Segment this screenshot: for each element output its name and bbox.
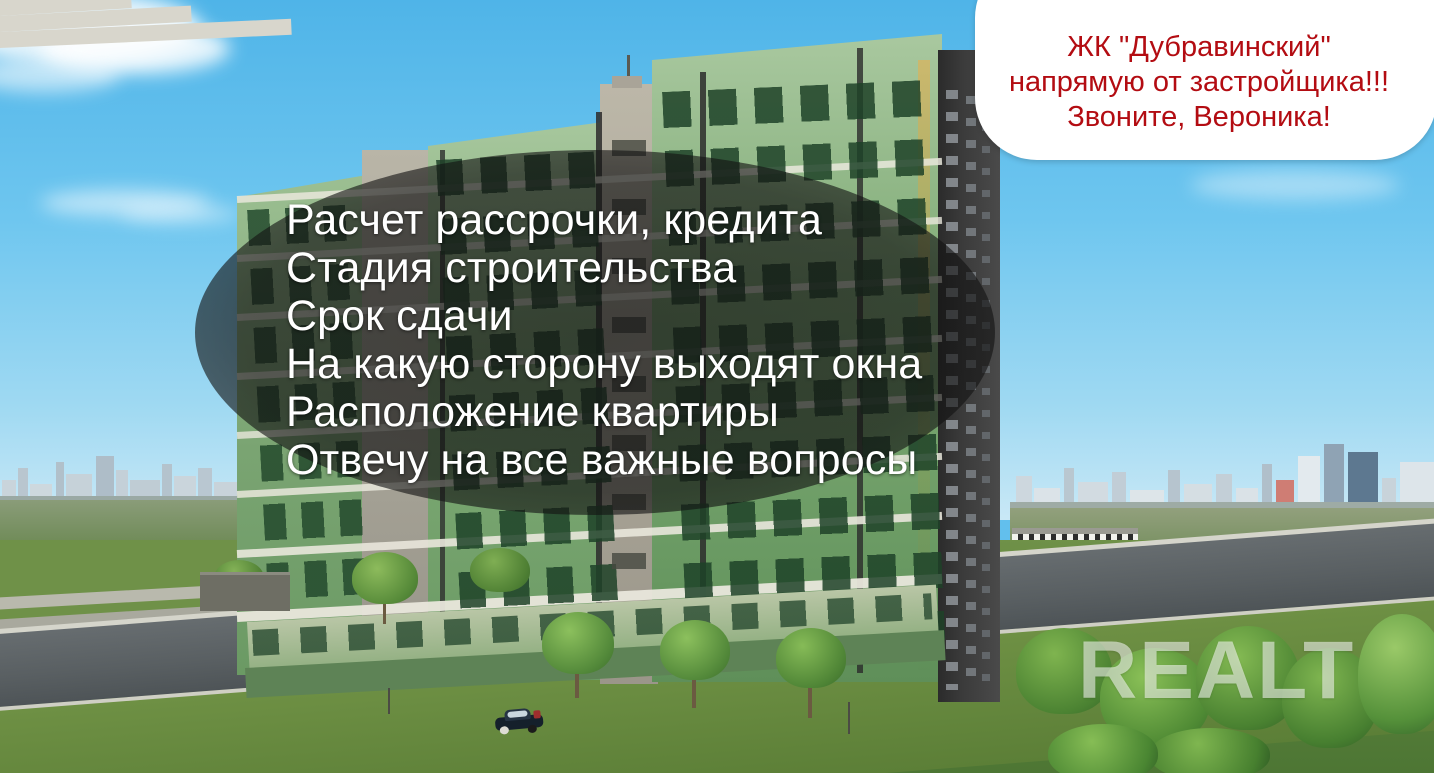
rooftop-vent-box — [612, 76, 642, 88]
tree-right-edge — [1358, 614, 1434, 734]
utility-shed — [200, 572, 290, 611]
cloud — [120, 205, 240, 223]
tree-near-building — [776, 628, 846, 688]
realt-watermark: REALT — [1078, 630, 1355, 712]
shrub-right — [1150, 728, 1270, 773]
tree-near-building — [660, 620, 730, 680]
tree-background — [470, 548, 530, 592]
distant-treeline-left — [0, 500, 250, 544]
promo-line-6: Отвечу на все важные вопросы — [286, 436, 1026, 484]
car-on-road — [494, 706, 544, 734]
promo-line-5: Расположение квартиры — [286, 388, 1026, 436]
bubble-line-3: Звоните, Вероника! — [975, 100, 1423, 135]
bubble-line-2: напрямую от застройщика!!! — [975, 65, 1423, 100]
promo-line-1: Расчет рассрочки, кредита — [286, 196, 1026, 244]
agent-callout-bubble: ЖК "Дубравинский" напрямую от застройщик… — [975, 0, 1434, 160]
distant-cityscape-right — [1010, 418, 1434, 518]
cloud — [1190, 170, 1400, 200]
street-lamp — [388, 688, 390, 714]
tree-near-building — [542, 612, 614, 674]
promo-line-2: Стадия строительства — [286, 244, 1026, 292]
shrub-foreground-right — [1048, 724, 1158, 773]
tree-foreground-left — [352, 552, 418, 604]
promo-bullet-list: Расчет рассрочки, кредита Стадия строите… — [286, 196, 1026, 484]
street-lamp — [848, 702, 850, 734]
listing-photo: Расчет рассрочки, кредита Стадия строите… — [0, 0, 1434, 773]
bubble-line-1: ЖК "Дубравинский" — [975, 30, 1423, 65]
agent-callout-text: ЖК "Дубравинский" напрямую от застройщик… — [975, 30, 1423, 135]
promo-line-4: На какую сторону выходят окна — [286, 340, 1026, 388]
promo-line-3: Срок сдачи — [286, 292, 1026, 340]
